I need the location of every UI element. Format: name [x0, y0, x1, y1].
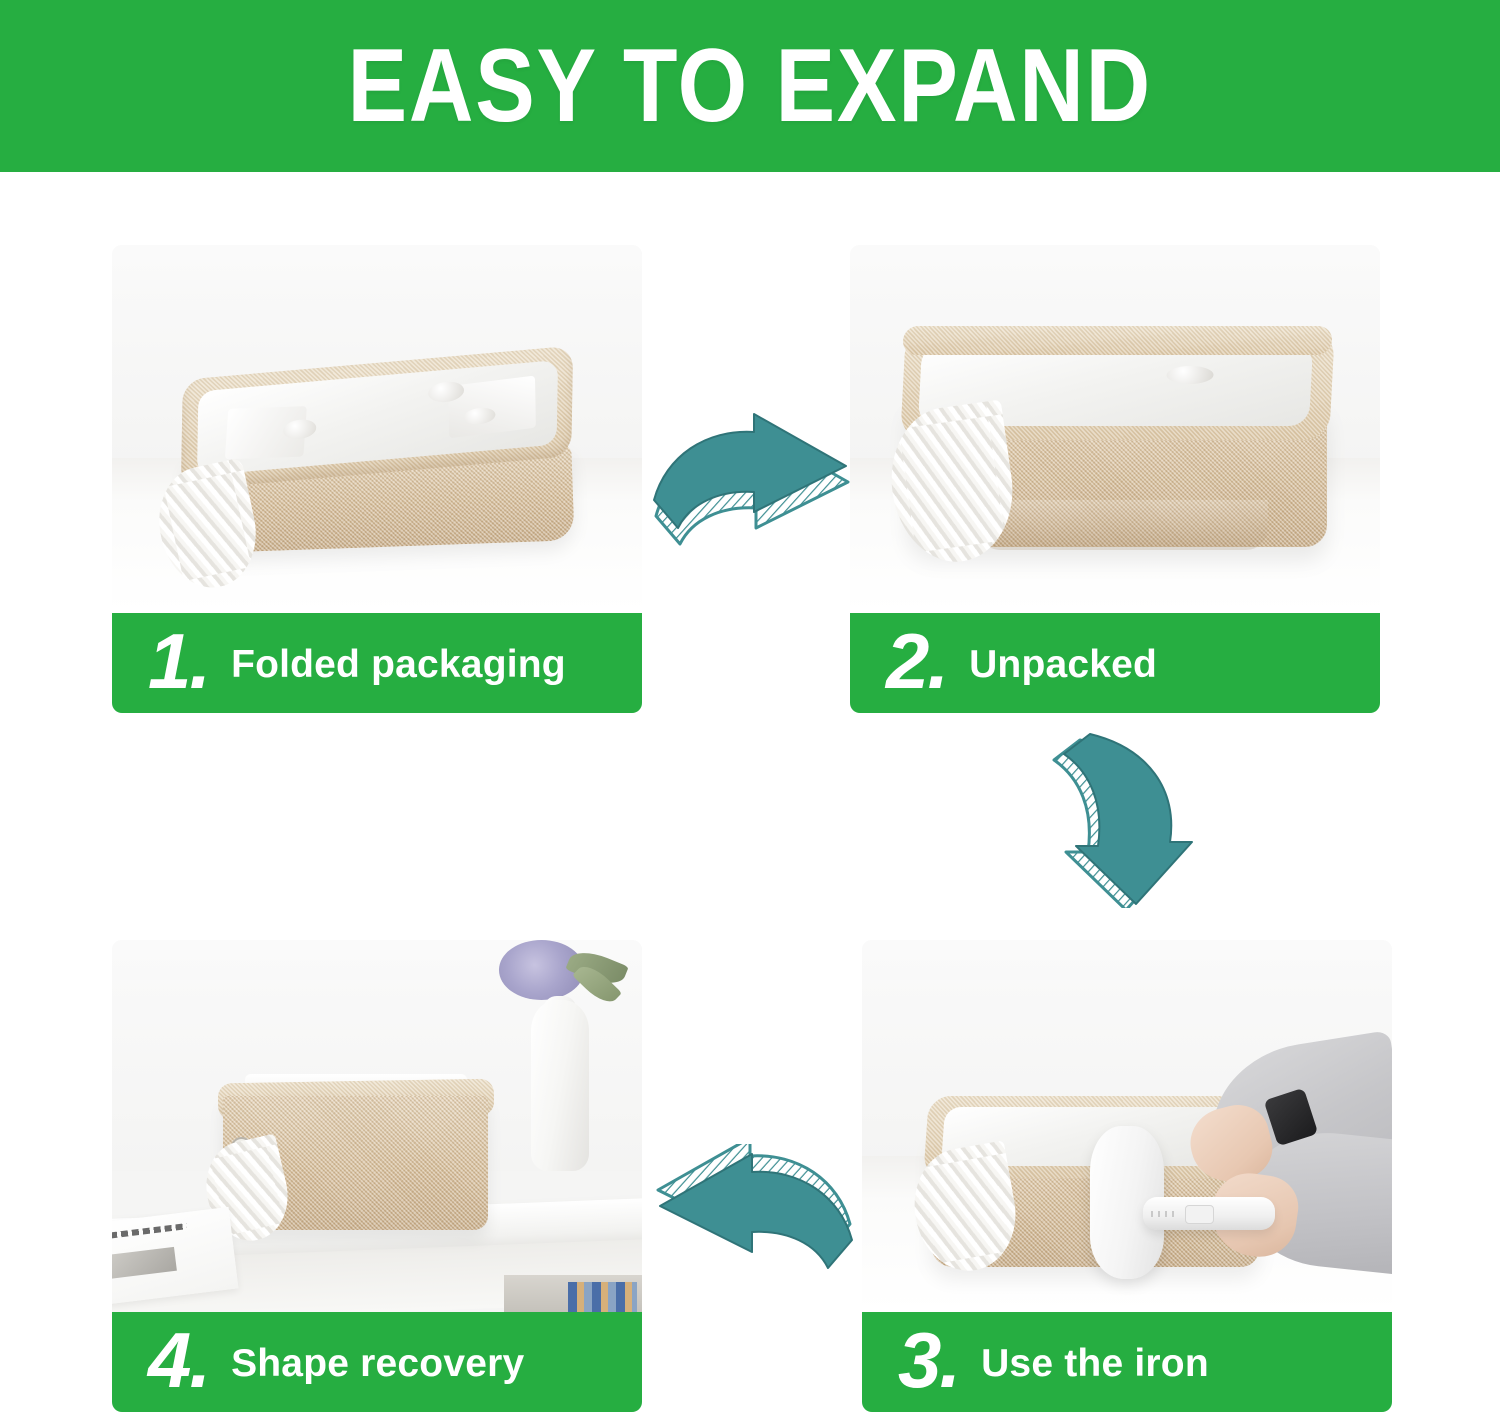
- basket-front-fold: [975, 500, 1268, 550]
- step-4-label: Shape recovery: [231, 1342, 524, 1386]
- books-on-lower-shelf: [568, 1282, 637, 1312]
- step-3-photo: [862, 940, 1392, 1312]
- step-1-label-bar: 1. Folded packaging: [112, 613, 642, 713]
- step-2-label-bar: 2. Unpacked: [850, 613, 1380, 713]
- white-vase: [531, 1000, 589, 1171]
- step-1-number: 1.: [148, 626, 209, 696]
- step-2-number: 2.: [886, 626, 947, 696]
- step-2-label: Unpacked: [969, 643, 1157, 687]
- step-4-label-bar: 4. Shape recovery: [112, 1312, 642, 1412]
- arrow-step1-to-step2: [648, 404, 858, 554]
- arrow-step2-to-step3: [1052, 728, 1212, 908]
- step-card-2: 2. Unpacked: [850, 245, 1380, 713]
- basket-rim-edge: [902, 326, 1333, 355]
- arrow-face: [654, 414, 846, 528]
- step-1-label: Folded packaging: [231, 643, 566, 687]
- step-card-4: 4. Shape recovery: [112, 940, 642, 1412]
- page-title: EASY TO EXPAND: [348, 34, 1152, 138]
- step-card-3: 3. Use the iron: [862, 940, 1392, 1412]
- header-banner: EASY TO EXPAND: [0, 0, 1500, 172]
- step-4-photo: [112, 940, 642, 1312]
- step-3-label-bar: 3. Use the iron: [862, 1312, 1392, 1412]
- arrow-step3-to-step4: [648, 1144, 858, 1294]
- steamer-power-button: [1185, 1205, 1214, 1224]
- basket-lining: [197, 360, 558, 476]
- rope-knot: [1166, 365, 1214, 383]
- step-1-photo: [112, 245, 642, 613]
- step-card-1: 1. Folded packaging: [112, 245, 642, 713]
- magazine-photo: [112, 1247, 177, 1280]
- step-3-label: Use the iron: [981, 1342, 1209, 1386]
- magazine-title-text: [112, 1224, 187, 1240]
- step-2-photo: [850, 245, 1380, 613]
- arrow-face: [1064, 734, 1192, 904]
- steamer-indicator-lights: [1151, 1211, 1178, 1217]
- step-3-number: 3.: [898, 1325, 959, 1395]
- step-4-number: 4.: [148, 1325, 209, 1395]
